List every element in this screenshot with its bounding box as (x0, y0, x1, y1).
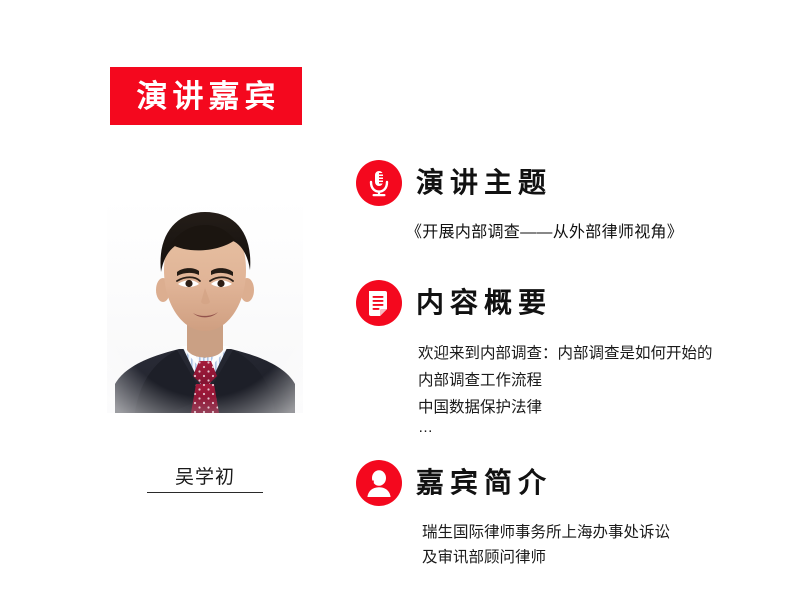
section-body: 《开展内部调查——从外部律师视角》 (356, 220, 786, 246)
bio-line: 及审讯部顾问律师 (422, 545, 786, 570)
list-item: 内部调查工作流程 (418, 367, 786, 394)
section-body: 欢迎来到内部调查：内部调查是如何开始的 内部调查工作流程 中国数据保护法律 … (356, 340, 786, 435)
section-header: 演讲主题 (356, 160, 786, 206)
section-title-banner: 演讲嘉宾 (110, 67, 302, 125)
section-body: 瑞生国际律师事务所上海办事处诉讼 及审讯部顾问律师 (356, 520, 786, 570)
outline-list: 欢迎来到内部调查：内部调查是如何开始的 内部调查工作流程 中国数据保护法律 (356, 340, 786, 421)
outline-ellipsis: … (356, 421, 786, 435)
bio-line: 瑞生国际律师事务所上海办事处诉讼 (422, 520, 786, 545)
speaker-photo (107, 198, 303, 413)
speaker-name-underline (147, 492, 263, 493)
content-column: 演讲主题 《开展内部调查——从外部律师视角》 (356, 160, 786, 570)
microphone-icon (356, 160, 402, 206)
speaker-name: 吴学初 (107, 462, 303, 489)
speech-topic-text: 《开展内部调查——从外部律师视角》 (356, 220, 786, 246)
list-item: 欢迎来到内部调查：内部调查是如何开始的 (418, 340, 786, 367)
bio-text: 瑞生国际律师事务所上海办事处诉讼 及审讯部顾问律师 (356, 520, 786, 570)
section-title: 嘉宾简介 (416, 469, 552, 497)
section-title: 演讲主题 (416, 169, 552, 197)
section-header: 嘉宾简介 (356, 460, 786, 506)
section-header: 内容概要 (356, 280, 786, 326)
person-icon (356, 460, 402, 506)
section-title: 内容概要 (416, 289, 552, 317)
banner-label: 演讲嘉宾 (132, 81, 281, 112)
section-guest-bio: 嘉宾简介 瑞生国际律师事务所上海办事处诉讼 及审讯部顾问律师 (356, 460, 786, 570)
section-speech-topic: 演讲主题 《开展内部调查——从外部律师视角》 (356, 160, 786, 246)
section-content-outline: 内容概要 欢迎来到内部调查：内部调查是如何开始的 内部调查工作流程 中国数据保护… (356, 280, 786, 435)
document-icon (356, 280, 402, 326)
slide-canvas: 演讲嘉宾 (0, 0, 800, 600)
list-item: 中国数据保护法律 (418, 394, 786, 421)
